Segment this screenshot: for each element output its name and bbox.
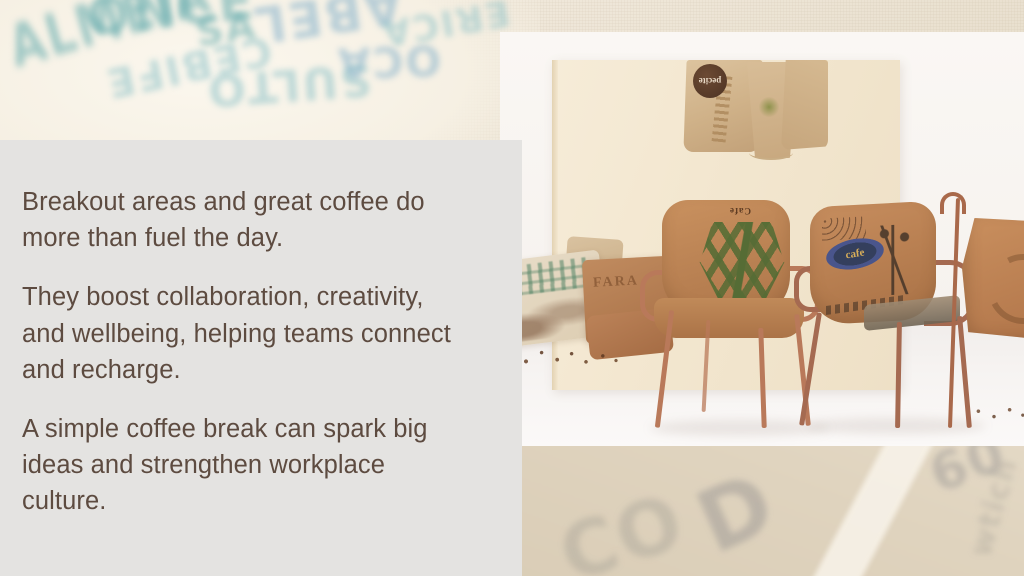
- hanging-burlap-sack: pecite: [685, 60, 828, 160]
- scattered-coffee-beans-right: [970, 404, 1024, 422]
- text-panel: Breakout areas and great coffee do more …: [0, 140, 522, 576]
- body-paragraph-2: They boost collaboration, creativity, an…: [22, 279, 452, 388]
- sack-label-fara: FARA: [593, 273, 640, 291]
- hanging-sack-logo: pecite: [693, 64, 727, 98]
- body-paragraph-1: Breakout areas and great coffee do more …: [22, 184, 452, 256]
- chair-far-right-cropped: [952, 218, 1024, 428]
- chair-far-right-rod-top: [940, 192, 966, 214]
- body-paragraph-3: A simple coffee break can spark big idea…: [22, 411, 452, 520]
- slide: ALMEIA CEBIFE ONCE SULTO ABEL OCA SA ERI…: [0, 0, 1024, 576]
- hanging-sack-logo-text: pecite: [693, 64, 727, 98]
- stencil-letter-6: SA: [194, 6, 259, 52]
- coffee-sack-chairs-photo: pecite FARA Cafe: [500, 32, 1024, 446]
- chair-left-leaf-motif: [696, 222, 788, 306]
